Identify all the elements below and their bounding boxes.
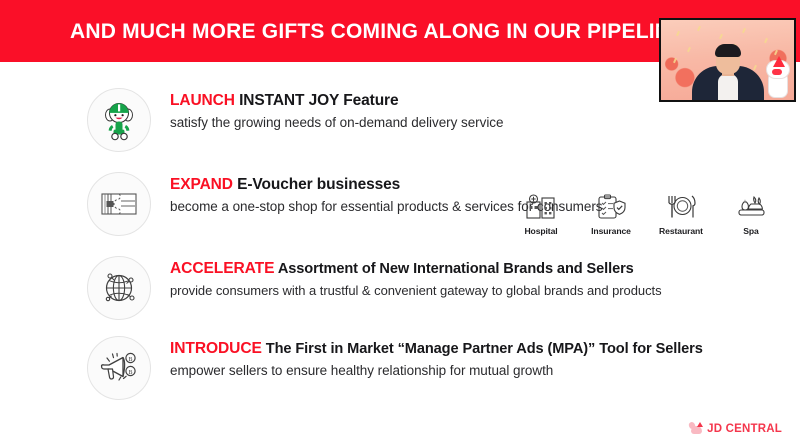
scooter-mascot-icon <box>87 88 151 152</box>
feature-headline-rest: INSTANT JOY Feature <box>239 92 398 109</box>
insurance-clipboard-icon <box>585 190 637 224</box>
jd-central-logo: JD CENTRAL <box>689 422 782 436</box>
feature-subtext: satisfy the growing needs of on-demand d… <box>170 113 770 133</box>
feature-subtext: provide consumers with a trustful & conv… <box>170 281 770 301</box>
feature-headline-rest: Assortment of New International Brands a… <box>278 261 634 277</box>
presenter-video-overlay[interactable] <box>659 18 796 102</box>
jd-dog-logo-icon <box>689 422 704 436</box>
feature-headline-rest: The First in Market “Manage Partner Ads … <box>266 341 703 357</box>
feature-text: ACCELERATE Assortment of New Internation… <box>170 259 770 301</box>
feature-keyword: ACCELERATE <box>170 260 274 277</box>
spa-icon <box>725 190 777 224</box>
category-label: Spa <box>725 226 777 236</box>
svg-text:B: B <box>128 370 132 376</box>
feature-text: INTRODUCE The First in Market “Manage Pa… <box>170 339 770 381</box>
megaphone-ads-icon: B B <box>87 336 151 400</box>
feature-keyword: INTRODUCE <box>170 340 262 357</box>
voucher-icon <box>87 172 151 236</box>
restaurant-cutlery-icon <box>655 190 707 224</box>
category-item: Restaurant <box>655 190 707 236</box>
category-item: Hospital <box>515 190 567 236</box>
feature-keyword: LAUNCH <box>170 92 235 109</box>
svg-text:B: B <box>128 357 132 363</box>
logo-text: JD CENTRAL <box>707 423 782 435</box>
category-label: Insurance <box>585 226 637 236</box>
page-title: AND MUCH MORE GIFTS COMING ALONG IN OUR … <box>70 20 684 44</box>
hospital-icon <box>515 190 567 224</box>
category-label: Hospital <box>515 226 567 236</box>
feature-headline: LAUNCH INSTANT JOY Feature <box>170 91 770 111</box>
category-label: Restaurant <box>655 226 707 236</box>
feature-keyword: EXPAND <box>170 176 233 193</box>
category-icon-group: Hospital Insurance <box>515 190 777 236</box>
feature-headline-rest: E-Voucher businesses <box>237 176 400 193</box>
globe-network-icon <box>87 256 151 320</box>
feature-text: LAUNCH INSTANT JOY Feature satisfy the g… <box>170 91 770 133</box>
feature-headline: INTRODUCE The First in Market “Manage Pa… <box>170 339 770 359</box>
feature-subtext: empower sellers to ensure healthy relati… <box>170 361 770 381</box>
category-item: Spa <box>725 190 777 236</box>
category-item: Insurance <box>585 190 637 236</box>
feature-headline: ACCELERATE Assortment of New Internation… <box>170 259 770 279</box>
